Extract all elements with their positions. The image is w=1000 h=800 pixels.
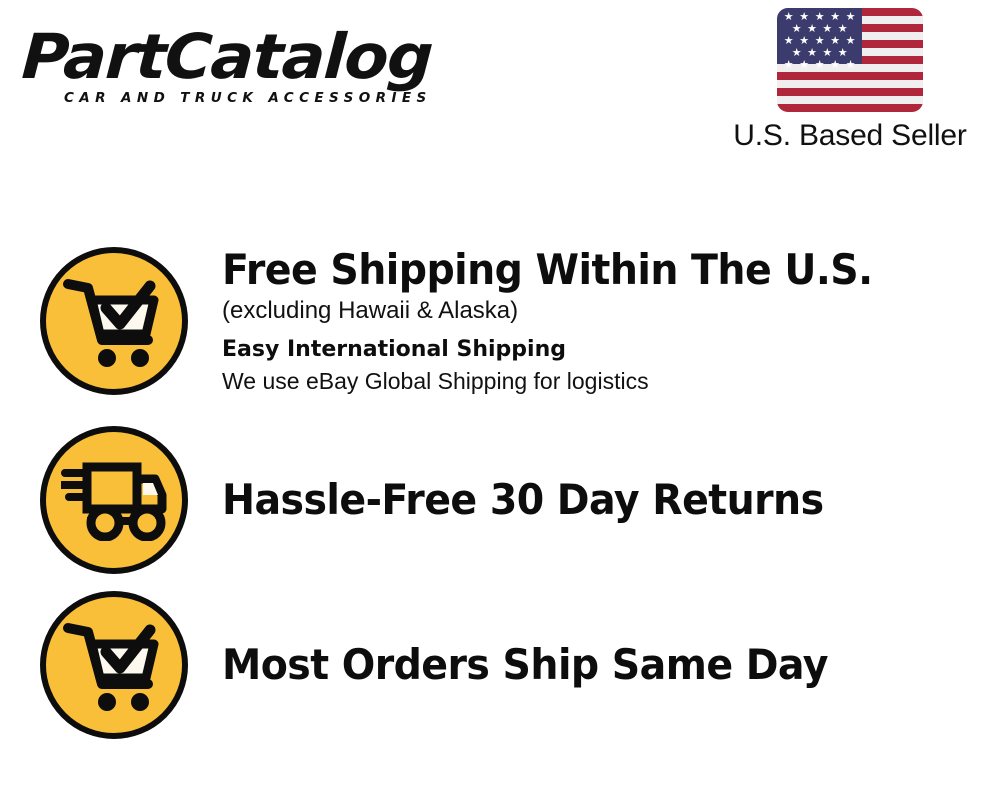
shopping-cart-check-icon — [40, 247, 188, 395]
us-flag-icon: ★★★★★ ★★★★ ★★★★★ ★★★★ ★★★★★ — [777, 8, 923, 112]
feature-row: Hassle-Free 30 Day Returns — [40, 414, 980, 586]
brand-wordmark: PartCatalog — [20, 26, 512, 88]
feature-text-block: Free Shipping Within The U.S. (excluding… — [188, 246, 980, 397]
seller-badge-label: U.S. Based Seller — [714, 119, 986, 153]
feature-row: Most Orders Ship Same Day — [40, 586, 980, 744]
shopping-cart-check-icon — [40, 591, 188, 739]
feature-subtitle: (excluding Hawaii & Alaska) — [222, 294, 980, 328]
page-header: PartCatalog CAR AND TRUCK ACCESSORIES ★★… — [0, 0, 1000, 175]
feature-title: Most Orders Ship Same Day — [222, 641, 935, 689]
delivery-truck-icon — [40, 426, 188, 574]
feature-title: Free Shipping Within The U.S. — [222, 246, 935, 294]
brand-logo[interactable]: PartCatalog CAR AND TRUCK ACCESSORIES — [22, 26, 492, 118]
feature-text-block: Hassle-Free 30 Day Returns — [188, 476, 980, 524]
feature-secondary-note: We use eBay Global Shipping for logistic… — [222, 366, 980, 397]
feature-secondary-title: Easy International Shipping — [222, 334, 980, 366]
us-based-seller-badge: ★★★★★ ★★★★ ★★★★★ ★★★★ ★★★★★ U.S. Based S… — [714, 8, 986, 153]
feature-title: Hassle-Free 30 Day Returns — [222, 476, 935, 524]
feature-text-block: Most Orders Ship Same Day — [188, 641, 980, 689]
flag-canton: ★★★★★ ★★★★ ★★★★★ ★★★★ ★★★★★ — [777, 8, 862, 64]
feature-row: Free Shipping Within The U.S. (excluding… — [40, 228, 980, 414]
